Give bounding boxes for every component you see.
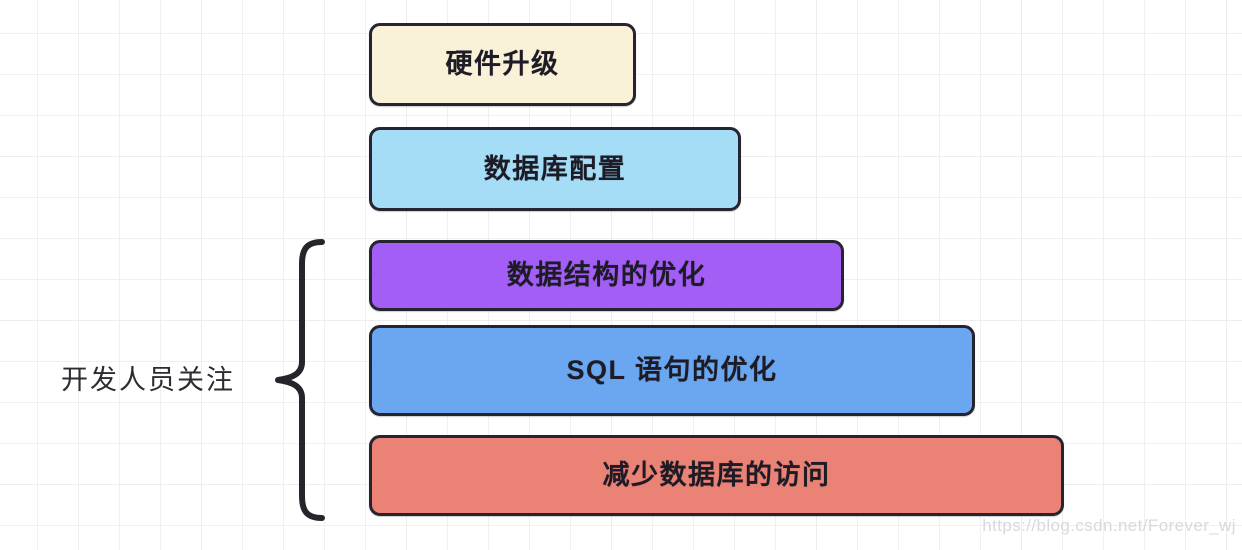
diagram-canvas: 硬件升级 数据库配置 数据结构的优化 SQL 语句的优化 减少数据库的访问 开发… bbox=[0, 0, 1242, 550]
box-hardware-upgrade[interactable]: 硬件升级 bbox=[369, 23, 636, 106]
box-db-config[interactable]: 数据库配置 bbox=[369, 127, 741, 211]
developer-focus-group: 开发人员关注 bbox=[0, 230, 370, 530]
box-hardware-upgrade-label: 硬件升级 bbox=[446, 51, 560, 78]
box-sql-optimization[interactable]: SQL 语句的优化 bbox=[369, 325, 975, 416]
box-data-structure[interactable]: 数据结构的优化 bbox=[369, 240, 844, 311]
developer-focus-label: 开发人员关注 bbox=[38, 358, 258, 397]
box-data-structure-label: 数据结构的优化 bbox=[507, 262, 707, 289]
left-curly-brace-icon bbox=[262, 230, 332, 530]
box-sql-optimization-label: SQL 语句的优化 bbox=[566, 357, 777, 384]
watermark: https://blog.csdn.net/Forever_wj bbox=[982, 516, 1236, 536]
box-db-config-label: 数据库配置 bbox=[484, 156, 627, 183]
box-reduce-db-access-label: 减少数据库的访问 bbox=[603, 462, 831, 489]
box-reduce-db-access[interactable]: 减少数据库的访问 bbox=[369, 435, 1064, 516]
